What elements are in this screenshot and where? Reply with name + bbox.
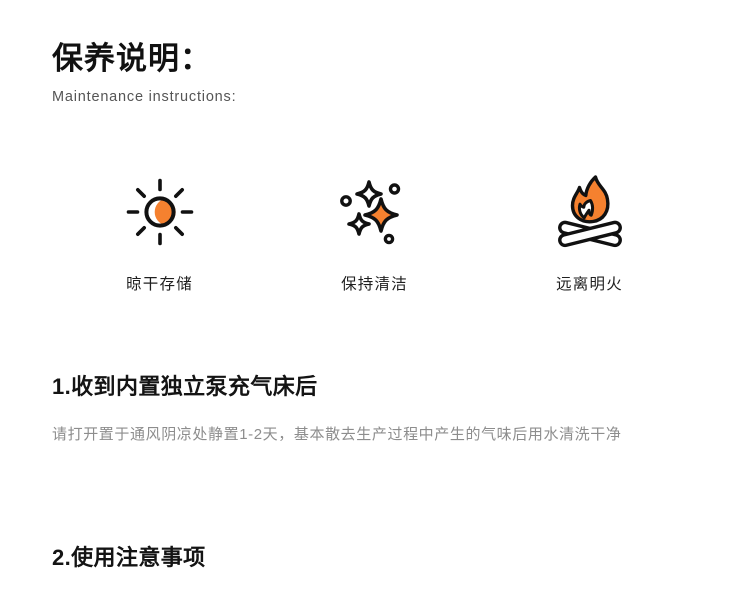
feature-item-keep-clean: 保持清洁 (267, 170, 482, 295)
feature-item-dry-storage: 晾干存储 (52, 170, 267, 295)
section-usage-notes: 2.使用注意事项 (52, 543, 698, 573)
feature-label-keep-clean: 保持清洁 (341, 276, 408, 295)
campfire-icon (548, 170, 632, 254)
section-2-heading: 2.使用注意事项 (52, 543, 698, 573)
feature-item-away-from-fire: 远离明火 (482, 170, 697, 295)
section-receiving-bed: 1.收到内置独立泵充气床后 请打开置于通风阴凉处静置1-2天，基本散去生产过程中… (52, 372, 698, 450)
sparkle-icon (333, 170, 417, 254)
section-1-heading: 1.收到内置独立泵充气床后 (52, 372, 698, 402)
sun-icon (118, 170, 202, 254)
section-1-body: 请打开置于通风阴凉处静置1-2天，基本散去生产过程中产生的气味后用水清洗干净 (52, 420, 692, 450)
page-header: 保养说明： Maintenance instructions: (52, 40, 236, 107)
feature-label-dry-storage: 晾干存储 (126, 276, 193, 295)
feature-label-away-from-fire: 远离明火 (556, 276, 623, 295)
page-subtitle: Maintenance instructions: (52, 88, 236, 107)
page-title: 保养说明： (52, 40, 236, 79)
feature-icon-row: 晾干存储 保持清洁 (52, 170, 698, 295)
maintenance-instructions-page: 保养说明： Maintenance instructions: (0, 0, 750, 597)
